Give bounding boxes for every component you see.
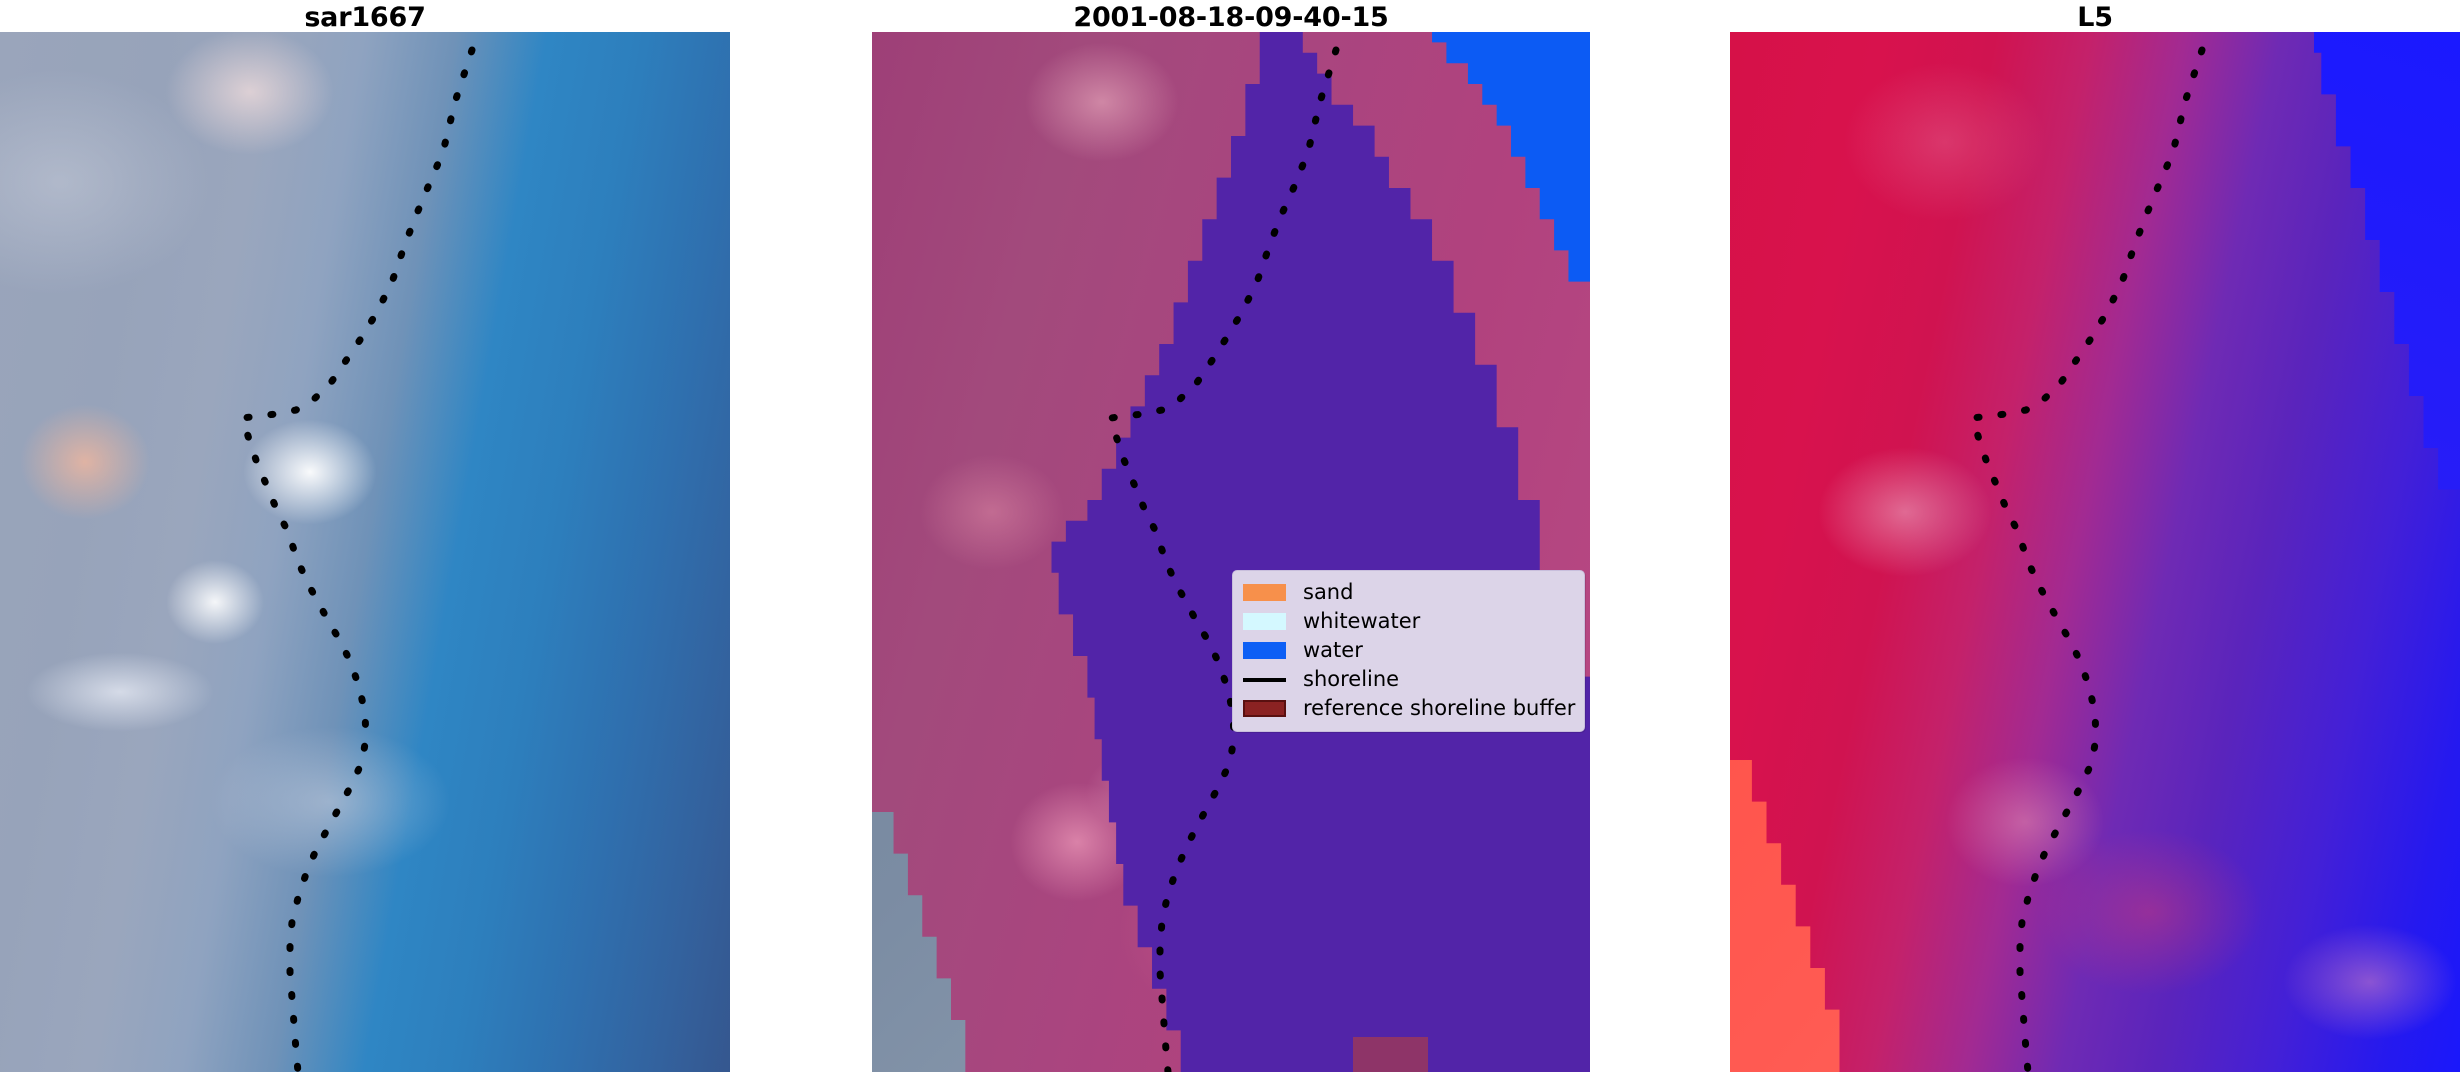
panel-classified: 2001-08-18-09-40-15: [872, 0, 1590, 1089]
legend-label-whitewater: whitewater: [1303, 611, 1420, 632]
classified-image: [872, 32, 1590, 1072]
sand-swatch: [1243, 584, 1286, 601]
panel-title-sar: sar1667: [0, 2, 730, 33]
sar-image: [0, 32, 730, 1072]
reference-shoreline-buffer-swatch: [1243, 700, 1286, 717]
sar-backscatter-layer: [0, 32, 730, 1072]
map-legend: sand whitewater water shoreline referenc…: [1232, 570, 1585, 732]
whitewater-swatch: [1243, 613, 1286, 630]
shoreline-swatch: [1243, 678, 1286, 682]
panel-title-classified: 2001-08-18-09-40-15: [872, 2, 1590, 33]
panel-sar: sar1667: [0, 0, 730, 1089]
legend-item-water: water: [1243, 636, 1574, 665]
water-swatch: [1243, 642, 1286, 659]
figure-canvas: sar1667 2001-08-18-09-40-15: [0, 0, 2460, 1089]
panel-l5: L5: [1730, 0, 2460, 1089]
l5-image: [1730, 32, 2460, 1072]
legend-item-reference-shoreline-buffer: reference shoreline buffer: [1243, 694, 1574, 723]
panel-title-l5: L5: [1730, 2, 2460, 33]
legend-label-sand: sand: [1303, 582, 1353, 603]
legend-label-water: water: [1303, 640, 1363, 661]
legend-label-shoreline: shoreline: [1303, 669, 1399, 690]
reference-shoreline-buffer-patch: [1353, 1037, 1428, 1072]
legend-item-sand: sand: [1243, 578, 1574, 607]
legend-item-shoreline: shoreline: [1243, 665, 1574, 694]
legend-label-reference-shoreline-buffer: reference shoreline buffer: [1303, 698, 1575, 719]
legend-item-whitewater: whitewater: [1243, 607, 1574, 636]
